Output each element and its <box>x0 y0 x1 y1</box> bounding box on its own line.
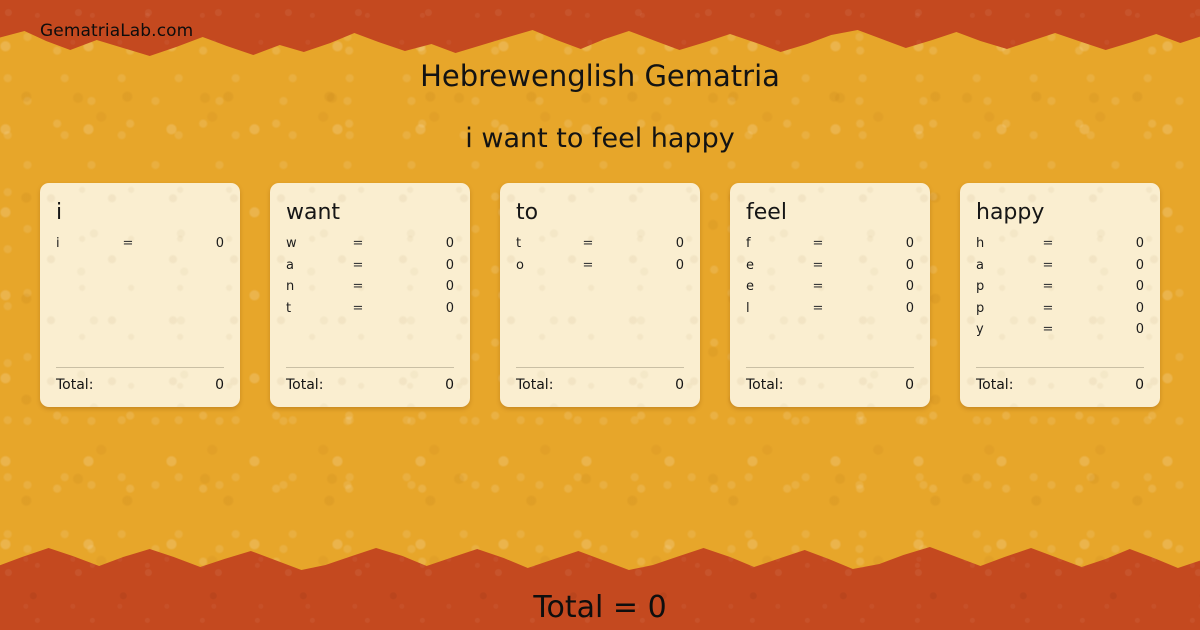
equals-sign: = <box>1022 258 1074 273</box>
card-total-row: Total:0 <box>746 377 914 393</box>
card-total-label: Total: <box>976 377 1013 393</box>
letter-value: 0 <box>1074 301 1144 316</box>
word-card: happyh=0a=0p=0p=0y=0Total:0 <box>960 183 1160 407</box>
card-total-value: 0 <box>445 377 454 393</box>
card-total-row: Total:0 <box>976 377 1144 393</box>
letter-row: a=0 <box>286 258 454 280</box>
equals-sign: = <box>332 236 384 251</box>
letter-value: 0 <box>384 236 454 251</box>
letter-row: o=0 <box>516 258 684 280</box>
word-card: feelf=0e=0e=0l=0Total:0 <box>730 183 930 407</box>
equals-sign: = <box>792 301 844 316</box>
letter-glyph: a <box>286 258 332 273</box>
card-total-row: Total:0 <box>286 377 454 393</box>
card-total-value: 0 <box>1135 377 1144 393</box>
letter-value: 0 <box>1074 258 1144 273</box>
letter-value: 0 <box>1074 279 1144 294</box>
letter-glyph: l <box>746 301 792 316</box>
letter-value: 0 <box>844 279 914 294</box>
card-total-label: Total: <box>746 377 783 393</box>
equals-sign: = <box>562 258 614 273</box>
letter-value: 0 <box>614 258 684 273</box>
letter-value: 0 <box>844 301 914 316</box>
letter-value: 0 <box>1074 236 1144 251</box>
letter-value: 0 <box>154 236 224 251</box>
equals-sign: = <box>1022 322 1074 337</box>
letter-value-list: w=0a=0n=0t=0 <box>286 236 454 367</box>
letter-glyph: t <box>516 236 562 251</box>
card-total-row: Total:0 <box>516 377 684 393</box>
letter-row: e=0 <box>746 279 914 301</box>
letter-glyph: n <box>286 279 332 294</box>
page-background: GematriaLab.com Hebrewenglish Gematria i… <box>0 0 1200 630</box>
letter-value: 0 <box>844 258 914 273</box>
word-card-list: ii=0Total:0wantw=0a=0n=0t=0Total:0tot=0o… <box>40 183 1160 407</box>
letter-row: t=0 <box>516 236 684 258</box>
card-word-title: want <box>286 201 454 224</box>
letter-row: f=0 <box>746 236 914 258</box>
equals-sign: = <box>792 279 844 294</box>
card-word-title: happy <box>976 201 1144 224</box>
word-card: tot=0o=0Total:0 <box>500 183 700 407</box>
card-word-title: i <box>56 201 224 224</box>
letter-glyph: y <box>976 322 1022 337</box>
card-total-label: Total: <box>516 377 553 393</box>
letter-row: y=0 <box>976 322 1144 344</box>
letter-glyph: o <box>516 258 562 273</box>
letter-value-list: i=0 <box>56 236 224 367</box>
letter-glyph: p <box>976 279 1022 294</box>
card-total-row: Total:0 <box>56 377 224 393</box>
card-divider <box>516 367 684 368</box>
word-card: wantw=0a=0n=0t=0Total:0 <box>270 183 470 407</box>
card-total-value: 0 <box>215 377 224 393</box>
letter-value-list: f=0e=0e=0l=0 <box>746 236 914 367</box>
letter-value: 0 <box>844 236 914 251</box>
letter-glyph: t <box>286 301 332 316</box>
grand-total: Total = 0 <box>0 590 1200 625</box>
equals-sign: = <box>1022 279 1074 294</box>
card-divider <box>56 367 224 368</box>
letter-glyph: h <box>976 236 1022 251</box>
equals-sign: = <box>332 258 384 273</box>
equals-sign: = <box>1022 236 1074 251</box>
letter-glyph: a <box>976 258 1022 273</box>
card-divider <box>976 367 1144 368</box>
letter-glyph: i <box>56 236 102 251</box>
page-title: Hebrewenglish Gematria <box>0 59 1200 93</box>
letter-value: 0 <box>1074 322 1144 337</box>
equals-sign: = <box>102 236 154 251</box>
letter-glyph: e <box>746 258 792 273</box>
letter-value-list: h=0a=0p=0p=0y=0 <box>976 236 1144 367</box>
letter-row: n=0 <box>286 279 454 301</box>
equals-sign: = <box>332 301 384 316</box>
card-total-value: 0 <box>905 377 914 393</box>
letter-row: t=0 <box>286 301 454 323</box>
letter-value: 0 <box>384 279 454 294</box>
letter-row: p=0 <box>976 279 1144 301</box>
card-total-label: Total: <box>286 377 323 393</box>
site-logo[interactable]: GematriaLab.com <box>40 21 193 41</box>
equals-sign: = <box>792 258 844 273</box>
letter-row: p=0 <box>976 301 1144 323</box>
card-word-title: to <box>516 201 684 224</box>
letter-value: 0 <box>614 236 684 251</box>
letter-value: 0 <box>384 301 454 316</box>
letter-row: w=0 <box>286 236 454 258</box>
letter-row: a=0 <box>976 258 1144 280</box>
letter-glyph: f <box>746 236 792 251</box>
card-word-title: feel <box>746 201 914 224</box>
letter-value: 0 <box>384 258 454 273</box>
letter-row: i=0 <box>56 236 224 258</box>
card-divider <box>286 367 454 368</box>
letter-row: e=0 <box>746 258 914 280</box>
letter-row: h=0 <box>976 236 1144 258</box>
letter-row: l=0 <box>746 301 914 323</box>
card-divider <box>746 367 914 368</box>
letter-glyph: e <box>746 279 792 294</box>
letter-glyph: p <box>976 301 1022 316</box>
card-total-label: Total: <box>56 377 93 393</box>
card-total-value: 0 <box>675 377 684 393</box>
equals-sign: = <box>332 279 384 294</box>
query-phrase: i want to feel happy <box>0 123 1200 154</box>
equals-sign: = <box>1022 301 1074 316</box>
equals-sign: = <box>562 236 614 251</box>
letter-glyph: w <box>286 236 332 251</box>
word-card: ii=0Total:0 <box>40 183 240 407</box>
equals-sign: = <box>792 236 844 251</box>
letter-value-list: t=0o=0 <box>516 236 684 367</box>
